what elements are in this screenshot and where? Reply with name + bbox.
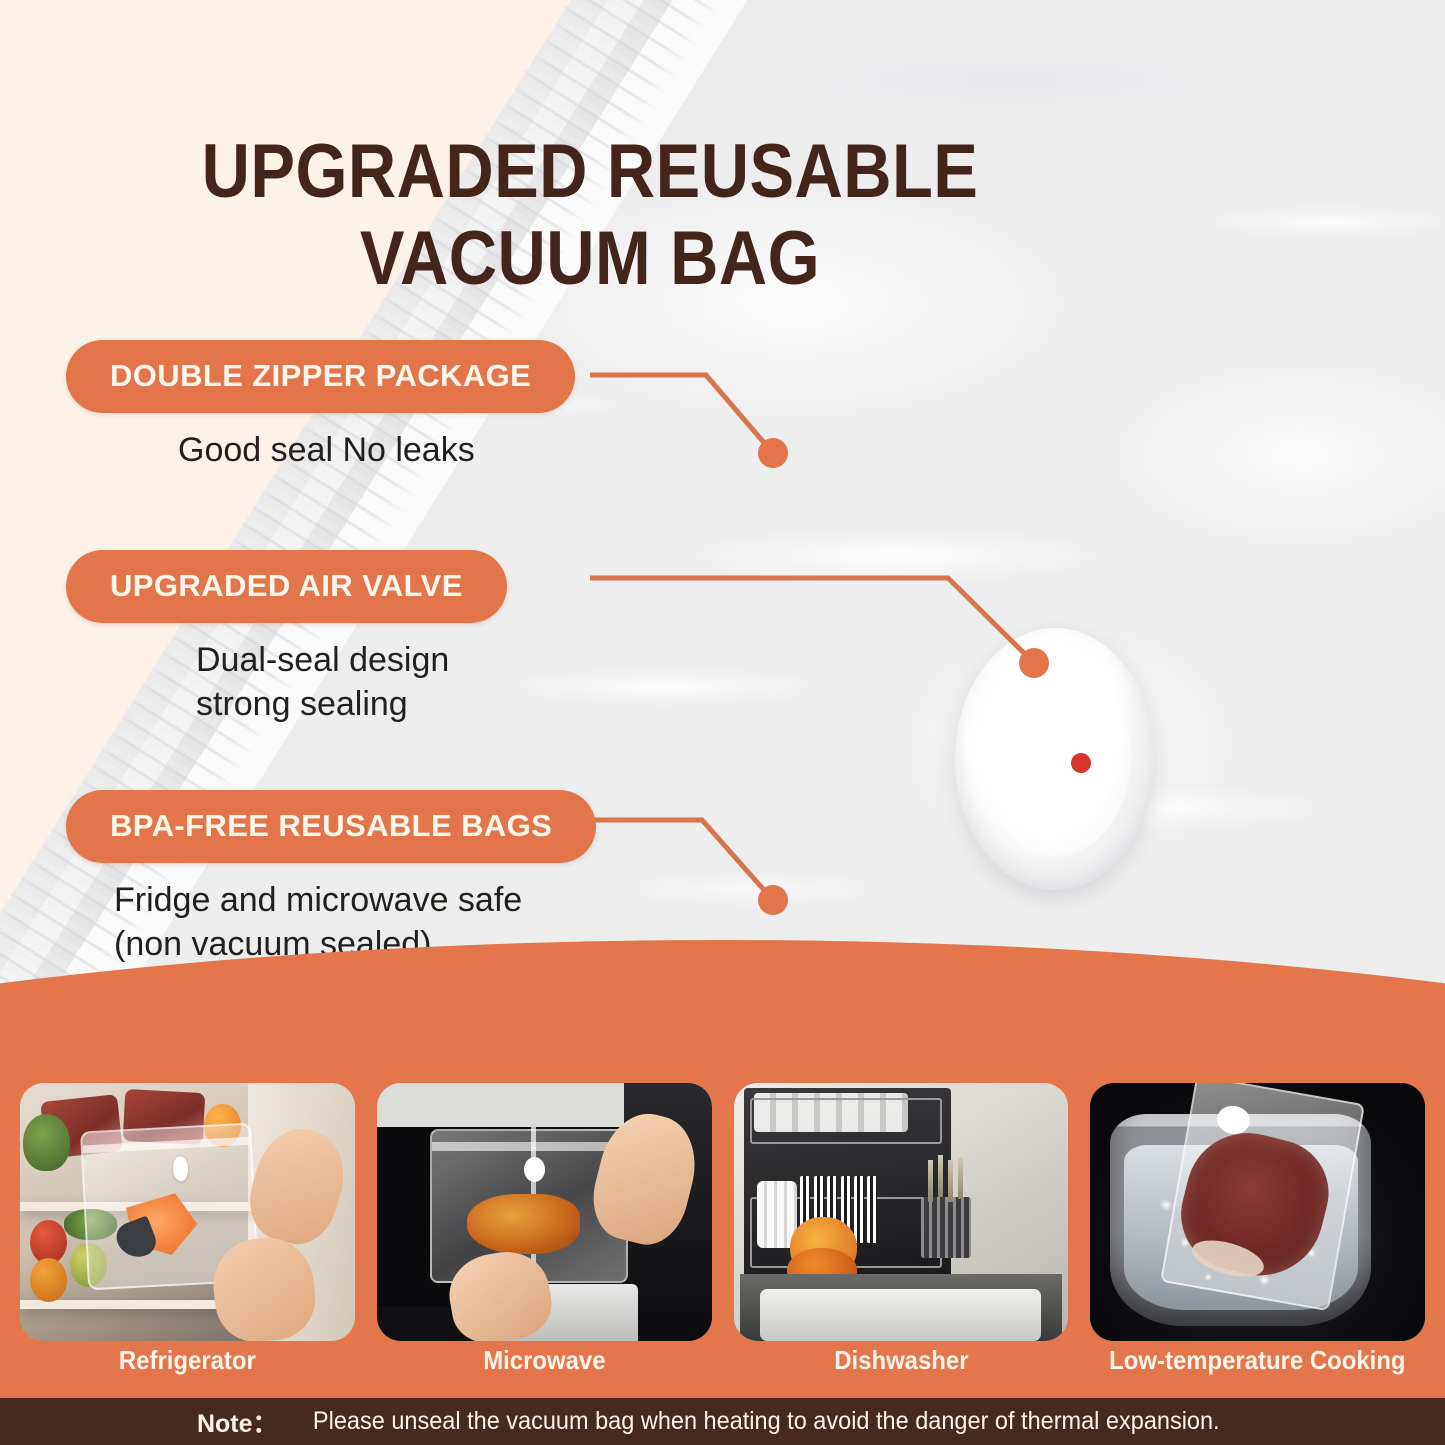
- use-case-photo-dishwasher[interactable]: [734, 1083, 1069, 1341]
- sous-vide-scene: [1090, 1083, 1425, 1341]
- bag-air-valve: [524, 1157, 545, 1182]
- connector-dot-1: [758, 438, 788, 468]
- utensil: [948, 1160, 953, 1201]
- use-case-label-refrigerator: Refrigerator: [33, 1345, 341, 1387]
- connector-line-2: [590, 578, 1033, 662]
- striped-plates: [867, 1176, 877, 1243]
- feature-callout-air-valve[interactable]: UPGRADED AIR VALVE Dual-seal design stro…: [66, 550, 507, 726]
- broccoli: [23, 1114, 70, 1171]
- feature-pill-label[interactable]: BPA-FREE REUSABLE BAGS: [66, 790, 596, 863]
- utensil: [938, 1155, 943, 1196]
- bag-zipper: [432, 1142, 626, 1151]
- connector-dot-2: [1019, 648, 1049, 678]
- use-case-photo-low-temp-cooking[interactable]: [1090, 1083, 1425, 1341]
- tomato: [30, 1258, 67, 1302]
- tomato: [30, 1220, 67, 1264]
- striped-plates: [854, 1176, 864, 1243]
- feature-callout-double-zipper[interactable]: DOUBLE ZIPPER PACKAGE Good seal No leaks: [66, 340, 575, 473]
- use-case-labels: Refrigerator Microwave Dishwasher Low-te…: [20, 1345, 1425, 1387]
- note-text: Please unseal the vacuum bag when heatin…: [312, 1407, 1219, 1436]
- bag-zipper: [82, 1137, 250, 1153]
- connector-line-3: [590, 820, 772, 899]
- feature-description: Dual-seal design strong sealing: [196, 639, 507, 726]
- utensil: [958, 1158, 963, 1199]
- dishwasher-scene: [734, 1083, 1069, 1341]
- note-prefix: Note：: [197, 1404, 278, 1440]
- feature-pill-label[interactable]: UPGRADED AIR VALVE: [66, 550, 507, 623]
- feature-callout-bpa-free[interactable]: BPA-FREE REUSABLE BAGS Fridge and microw…: [66, 790, 596, 966]
- use-case-photo-refrigerator[interactable]: [20, 1083, 355, 1341]
- refrigerator-scene: [20, 1083, 355, 1341]
- upper-rack: [750, 1098, 941, 1143]
- bag-air-valve: [172, 1156, 188, 1182]
- utensil: [928, 1160, 933, 1201]
- use-case-label-low-temperature-cooking: Low-temperature Cooking: [1104, 1345, 1412, 1387]
- use-case-label-dishwasher: Dishwasher: [747, 1345, 1055, 1387]
- infographic-page: UPGRADED REUSABLE VACUUM BAG DOUBLE ZIPP…: [0, 0, 1445, 1445]
- feature-pill-label[interactable]: DOUBLE ZIPPER PACKAGE: [66, 340, 575, 413]
- use-case-photo-microwave[interactable]: [377, 1083, 712, 1341]
- note-bar: Note： Please unseal the vacuum bag when …: [0, 1398, 1445, 1445]
- dishwasher-door-panel: [760, 1289, 1041, 1341]
- microwave-scene: [377, 1083, 712, 1341]
- cooked-meat-in-sauce: [467, 1194, 580, 1254]
- use-case-photo-strip: [20, 1083, 1425, 1341]
- feature-description: Good seal No leaks: [178, 429, 575, 473]
- connector-line-1: [590, 375, 772, 452]
- use-case-label-microwave: Microwave: [390, 1345, 698, 1387]
- utensil-basket: [921, 1197, 971, 1259]
- connector-dot-3: [758, 885, 788, 915]
